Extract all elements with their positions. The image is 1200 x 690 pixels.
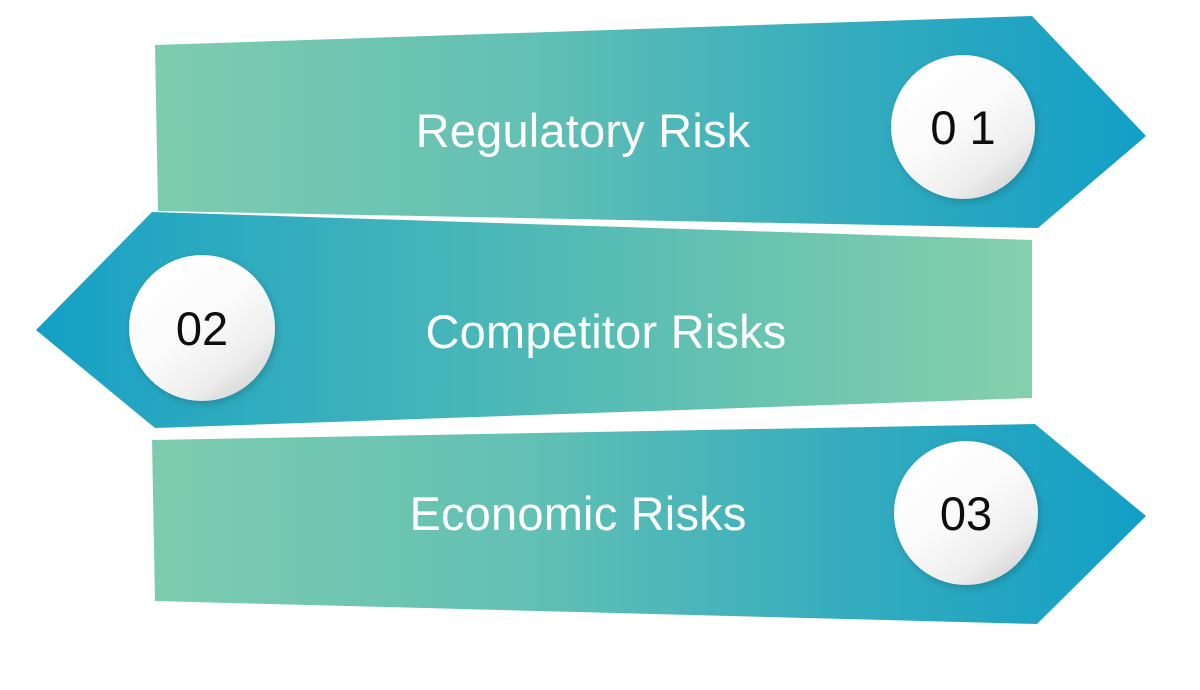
row-label-competitor-risks: Competitor Risks	[425, 305, 786, 358]
diagram-canvas: Regulatory Risk 0 1 Competitor Risks 02 …	[0, 0, 1200, 690]
badge-03[interactable]: 03	[894, 441, 1038, 585]
row-label-regulatory-risk: Regulatory Risk	[416, 104, 751, 157]
badge-02[interactable]: 02	[129, 255, 275, 401]
badge-number-03: 03	[940, 487, 992, 540]
risk-chevron-diagram: Regulatory Risk 0 1 Competitor Risks 02 …	[0, 0, 1200, 690]
chevron-row-competitor-risks[interactable]: Competitor Risks 02	[36, 212, 1032, 428]
badge-number-02: 02	[176, 302, 228, 355]
row-label-economic-risks: Economic Risks	[409, 487, 746, 540]
badge-number-01: 0 1	[930, 101, 995, 154]
chevron-row-regulatory-risk[interactable]: Regulatory Risk 0 1	[155, 16, 1146, 228]
chevron-row-economic-risks[interactable]: Economic Risks 03	[152, 424, 1146, 624]
badge-01[interactable]: 0 1	[891, 55, 1035, 199]
